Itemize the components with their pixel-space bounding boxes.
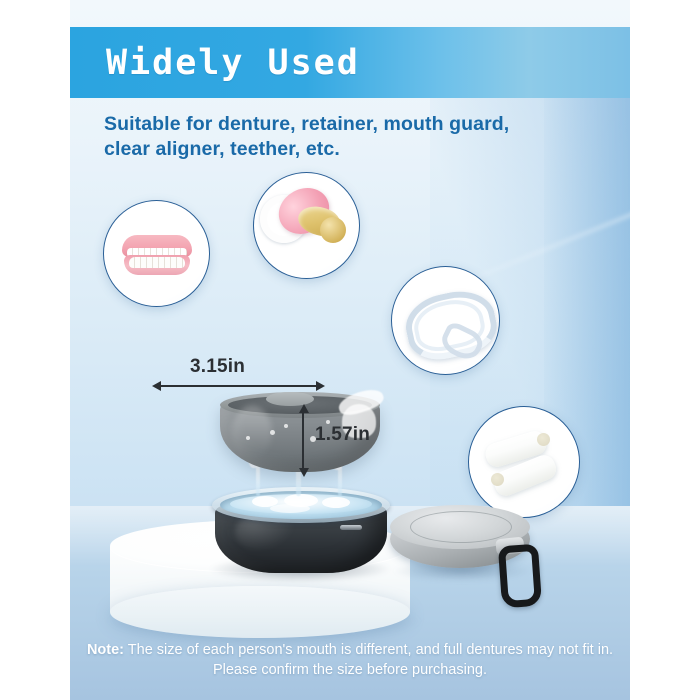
- banner-title: Widely Used: [106, 43, 360, 83]
- scene-background: Widely Used Suitable for denture, retain…: [70, 0, 630, 700]
- height-dimension-label: 1.57in: [315, 424, 370, 446]
- width-arrow-right: [316, 381, 325, 391]
- thumbnail-mouth-guard: [391, 266, 500, 375]
- header-banner: Widely Used: [70, 27, 630, 98]
- base-power-button[interactable]: [340, 525, 362, 530]
- foam-bubble: [270, 504, 310, 513]
- height-arrow-down: [299, 468, 309, 477]
- note-text: Note: The size of each person's mouth is…: [70, 640, 630, 680]
- width-arrow-left: [152, 381, 161, 391]
- width-dimension-line: [160, 385, 318, 387]
- podium-base: [110, 586, 410, 638]
- foam-bubble: [322, 497, 350, 508]
- subtitle-block: Suitable for denture, retainer, mouth gu…: [104, 112, 604, 162]
- height-dimension-line: [302, 412, 304, 468]
- product-infographic: Widely Used Suitable for denture, retain…: [0, 0, 700, 700]
- thumbnail-cotton-rolls: [468, 406, 580, 518]
- basket-highlight: [232, 406, 272, 458]
- width-dimension-label: 3.15in: [190, 356, 245, 378]
- subtitle-line-2: clear aligner, teether, etc.: [104, 137, 604, 162]
- subtitle-line-1: Suitable for denture, retainer, mouth gu…: [104, 112, 604, 137]
- thumbnail-pacifier: [253, 172, 360, 279]
- denture-icon: [122, 235, 192, 275]
- lid-strap-loop[interactable]: [498, 544, 542, 609]
- water-droplet: [284, 424, 288, 428]
- water-droplet: [246, 436, 250, 440]
- note-body: The size of each person's mouth is diffe…: [124, 642, 613, 678]
- note-prefix: Note:: [87, 642, 124, 658]
- water-droplet: [270, 430, 275, 435]
- height-arrow-up: [299, 404, 309, 413]
- thumbnail-denture: [103, 200, 210, 307]
- lid-inner-ring: [410, 511, 512, 543]
